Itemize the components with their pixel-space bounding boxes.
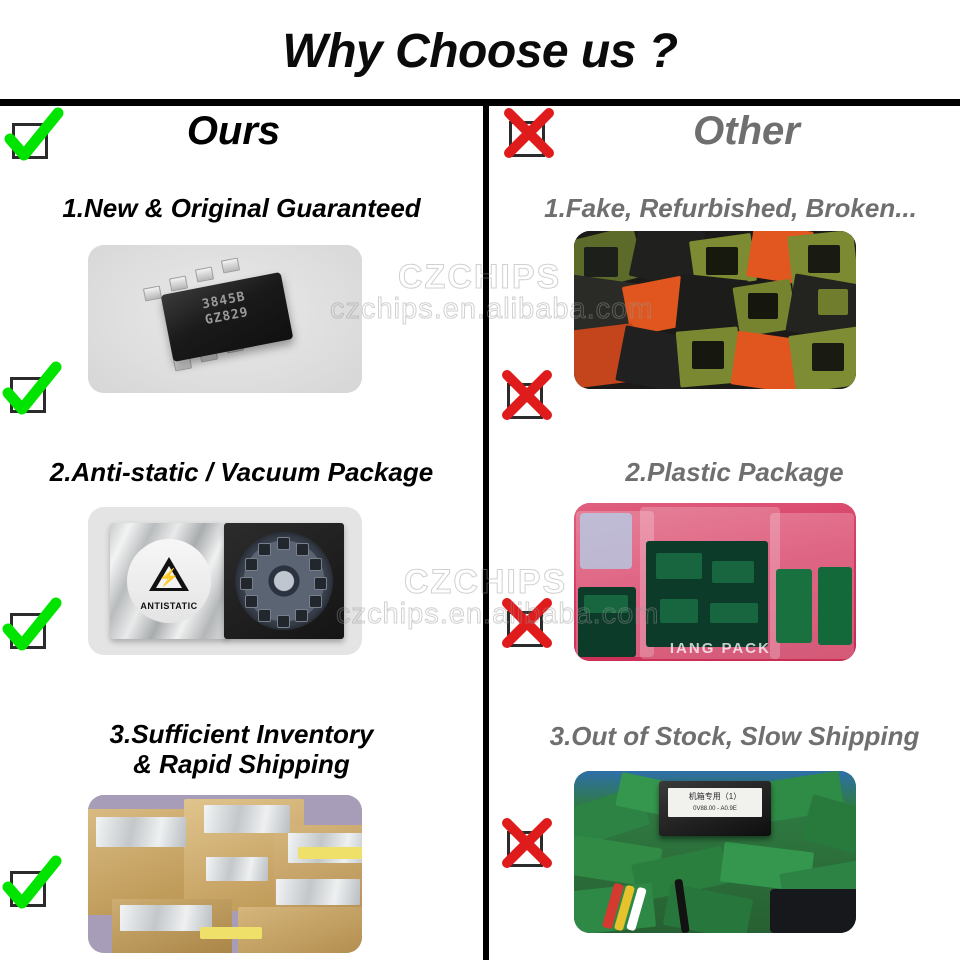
column-header-ours: Ours	[0, 101, 483, 187]
feature-title: 1.New & Original Guaranteed	[0, 187, 483, 223]
thumbnail-ic-chip: 3845B GZ829	[88, 245, 362, 393]
column-header-other: Other	[489, 101, 960, 187]
antistatic-bag: ⚡ ANTISTATIC	[110, 523, 228, 639]
black-module: 机箱专用（1） 0V88.00 - A0.9E	[659, 781, 772, 836]
antistatic-label: ANTISTATIC	[127, 601, 211, 611]
green-check-icon	[6, 607, 50, 651]
feature-title: 2.Anti-static / Vacuum Package	[0, 455, 483, 487]
thumbnail-scrap-pcb-pile: 机箱专用（1） 0V88.00 - A0.9E	[574, 771, 856, 933]
thumbnail-plastic-package: IANG PACK	[574, 503, 856, 661]
red-cross-icon	[503, 377, 547, 421]
package-overlay-text: IANG PACK	[670, 640, 771, 657]
feature-other-1: 1.Fake, Refurbished, Broken...	[489, 187, 960, 455]
feature-ours-1: 1.New & Original Guaranteed 3845B GZ829	[0, 187, 483, 455]
column-label-other: Other	[511, 109, 960, 154]
column-ours: Ours 1.New & Original Guaranteed	[0, 101, 483, 960]
feature-title: 3.Sufficient Inventory & Rapid Shipping	[0, 717, 483, 779]
comparison-infographic: Why Choose us ? Ours 1.New & Original Gu…	[0, 0, 960, 960]
column-other: Other 1.Fake, Refurbished, Broken...	[489, 101, 960, 960]
thumbnail-scrap-chips	[574, 231, 856, 389]
module-label-line1: 机箱专用（1）	[668, 792, 763, 802]
chip-marking: 3845B GZ829	[163, 282, 289, 337]
feature-other-3: 3.Out of Stock, Slow Shipping	[489, 717, 960, 957]
component-reel	[224, 523, 344, 639]
feature-title: 1.Fake, Refurbished, Broken...	[495, 187, 960, 223]
feature-title: 3.Out of Stock, Slow Shipping	[499, 717, 960, 751]
column-label-ours: Ours	[0, 109, 475, 154]
feature-ours-3: 3.Sufficient Inventory & Rapid Shipping	[0, 717, 483, 957]
green-check-icon	[6, 371, 50, 415]
thumbnail-antistatic-package: ⚡ ANTISTATIC	[88, 507, 362, 655]
feature-ours-2: 2.Anti-static / Vacuum Package ⚡ ANTISTA…	[0, 455, 483, 717]
thumbnail-stocked-cartons	[88, 795, 362, 953]
feature-other-2: 2.Plastic Package	[489, 455, 960, 717]
page-title: Why Choose us ?	[0, 24, 960, 79]
red-cross-icon	[503, 605, 547, 649]
red-cross-icon	[503, 825, 547, 869]
module-label-line2: 0V88.00 - A0.9E	[668, 804, 763, 814]
green-check-icon	[6, 865, 50, 909]
feature-title: 2.Plastic Package	[499, 455, 960, 487]
